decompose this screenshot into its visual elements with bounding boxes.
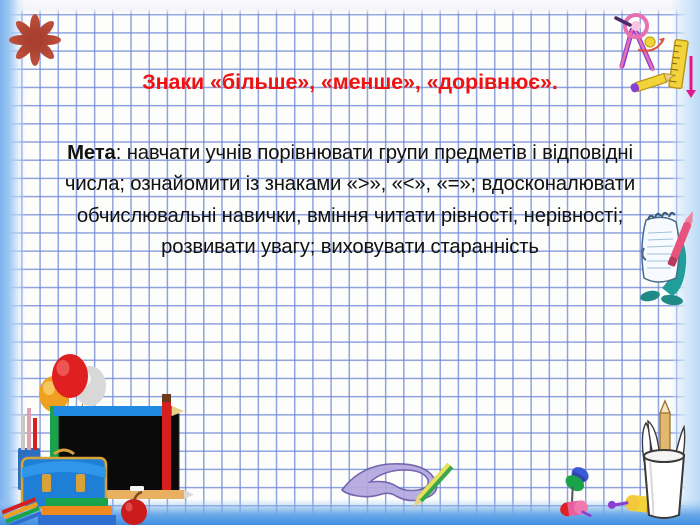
goal-text: навчати учнів порівнювати групи предметі…: [65, 142, 635, 258]
goal-separator: :: [116, 142, 127, 164]
slide-canvas: Знаки «більше», «менше», «дорівнює». Мет…: [0, 0, 700, 525]
french-curve-icon: [336, 452, 460, 514]
pencil-cup-icon: [630, 399, 696, 521]
top-edge-band: [0, 0, 700, 15]
goal-paragraph: Мета: навчати учнів порівнювати групи пр…: [52, 138, 648, 264]
school-supplies-icon: [2, 350, 198, 525]
page-title: Знаки «більше», «менше», «дорівнює».: [0, 70, 700, 95]
flower-icon: [4, 10, 66, 68]
goal-label: Мета: [67, 142, 116, 164]
